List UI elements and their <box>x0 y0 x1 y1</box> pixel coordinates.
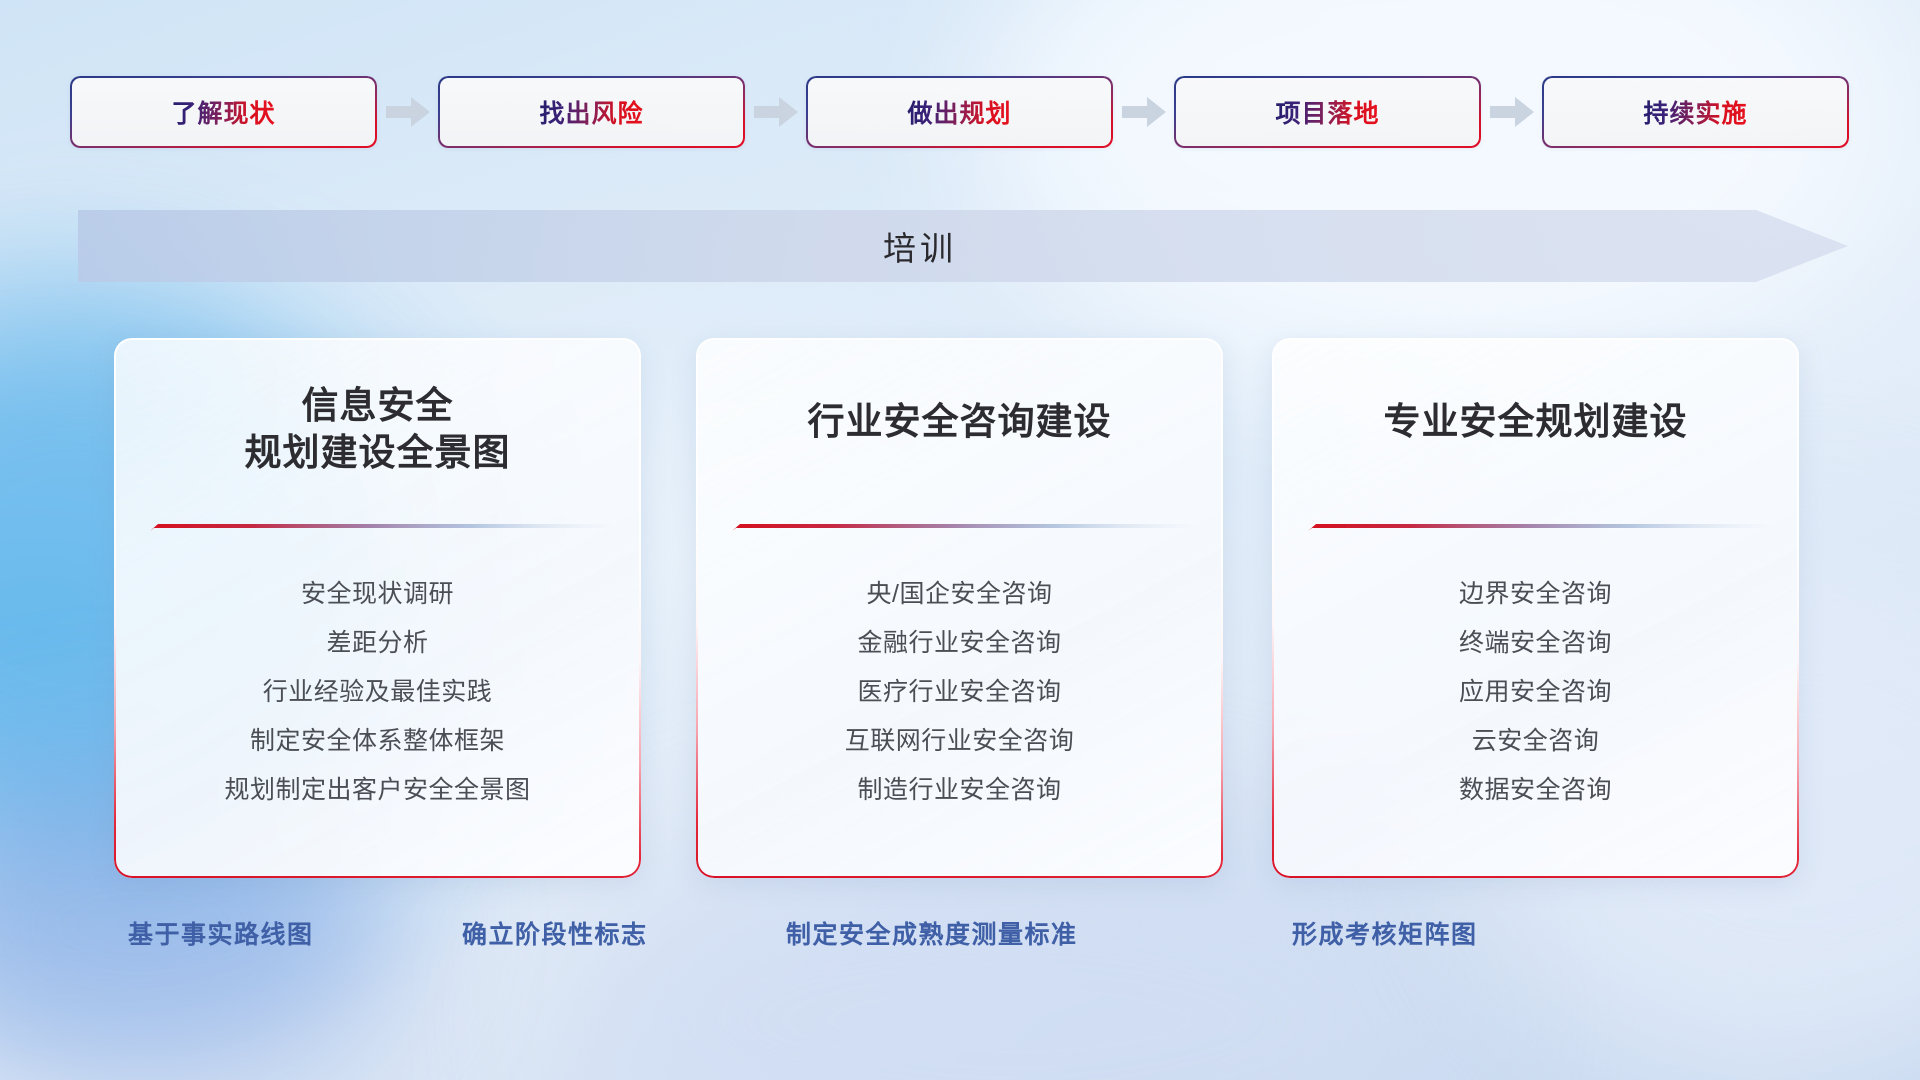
card-professional-security-planning[interactable]: 专业安全规划建设 <box>1272 338 1799 878</box>
card-item-list: 边界安全咨询 终端安全咨询 应用安全咨询 云安全咨询 数据安全咨询 <box>1272 570 1799 815</box>
list-item: 安全现状调研 <box>114 570 641 619</box>
list-item: 规划制定出客户安全全景图 <box>114 766 641 815</box>
list-item: 制定安全体系整体框架 <box>114 717 641 766</box>
card-item-list: 央/国企安全咨询 金融行业安全咨询 医疗行业安全咨询 互联网行业安全咨询 制造行… <box>696 570 1223 815</box>
caption-roadmap: 基于事实路线图 <box>128 915 314 951</box>
card-industry-security-consulting[interactable]: 行业安全咨询建设 <box>696 338 1223 878</box>
caption-maturity: 制定安全成熟度测量标准 <box>786 915 1078 951</box>
step-box-5[interactable]: 持续实施 <box>1542 76 1849 148</box>
card-title: 专业安全规划建设 <box>1272 338 1799 445</box>
list-item: 制造行业安全咨询 <box>696 766 1223 815</box>
list-item: 央/国企安全咨询 <box>696 570 1223 619</box>
list-item: 行业经验及最佳实践 <box>114 668 641 717</box>
step-box-1[interactable]: 了解现状 <box>70 76 377 148</box>
step-arrow-2 <box>745 76 806 148</box>
step-label-3: 做出规划 <box>907 94 1011 130</box>
training-label: 培训 <box>883 222 957 270</box>
gradient-divider-icon <box>1302 523 1769 535</box>
step-arrow-1 <box>377 76 438 148</box>
card-title: 信息安全 规划建设全景图 <box>114 338 641 477</box>
card-row: 信息安全 规划建设全景图 <box>0 338 1920 878</box>
slide-canvas: 了解现状 找出风险 做出规划 项目落地 <box>0 0 1920 1080</box>
gradient-divider-icon <box>726 523 1193 535</box>
list-item: 差距分析 <box>114 619 641 668</box>
gradient-divider-icon <box>144 523 611 535</box>
training-label-wrap: 培训 <box>0 210 1840 282</box>
step-arrow-3 <box>1113 76 1174 148</box>
step-label-4: 项目落地 <box>1275 94 1379 130</box>
step-label-1: 了解现状 <box>171 94 275 130</box>
list-item: 终端安全咨询 <box>1272 619 1799 668</box>
step-arrow-4 <box>1481 76 1542 148</box>
list-item: 医疗行业安全咨询 <box>696 668 1223 717</box>
list-item: 边界安全咨询 <box>1272 570 1799 619</box>
list-item: 数据安全咨询 <box>1272 766 1799 815</box>
background-blob-top-right <box>980 0 1880 380</box>
step-box-3[interactable]: 做出规划 <box>806 76 1113 148</box>
step-box-4[interactable]: 项目落地 <box>1174 76 1481 148</box>
list-item: 应用安全咨询 <box>1272 668 1799 717</box>
list-item: 互联网行业安全咨询 <box>696 717 1223 766</box>
list-item: 金融行业安全咨询 <box>696 619 1223 668</box>
process-step-row: 了解现状 找出风险 做出规划 项目落地 <box>70 76 1850 148</box>
caption-matrix: 形成考核矩阵图 <box>1292 915 1478 951</box>
step-box-2[interactable]: 找出风险 <box>438 76 745 148</box>
list-item: 云安全咨询 <box>1272 717 1799 766</box>
card-info-security-blueprint[interactable]: 信息安全 规划建设全景图 <box>114 338 641 878</box>
caption-row: 基于事实路线图 确立阶段性标志 制定安全成熟度测量标准 形成考核矩阵图 <box>0 915 1920 965</box>
card-item-list: 安全现状调研 差距分析 行业经验及最佳实践 制定安全体系整体框架 规划制定出客户… <box>114 570 641 815</box>
step-label-5: 持续实施 <box>1643 94 1747 130</box>
step-label-2: 找出风险 <box>539 94 643 130</box>
caption-milestone: 确立阶段性标志 <box>462 915 648 951</box>
card-title: 行业安全咨询建设 <box>696 338 1223 445</box>
